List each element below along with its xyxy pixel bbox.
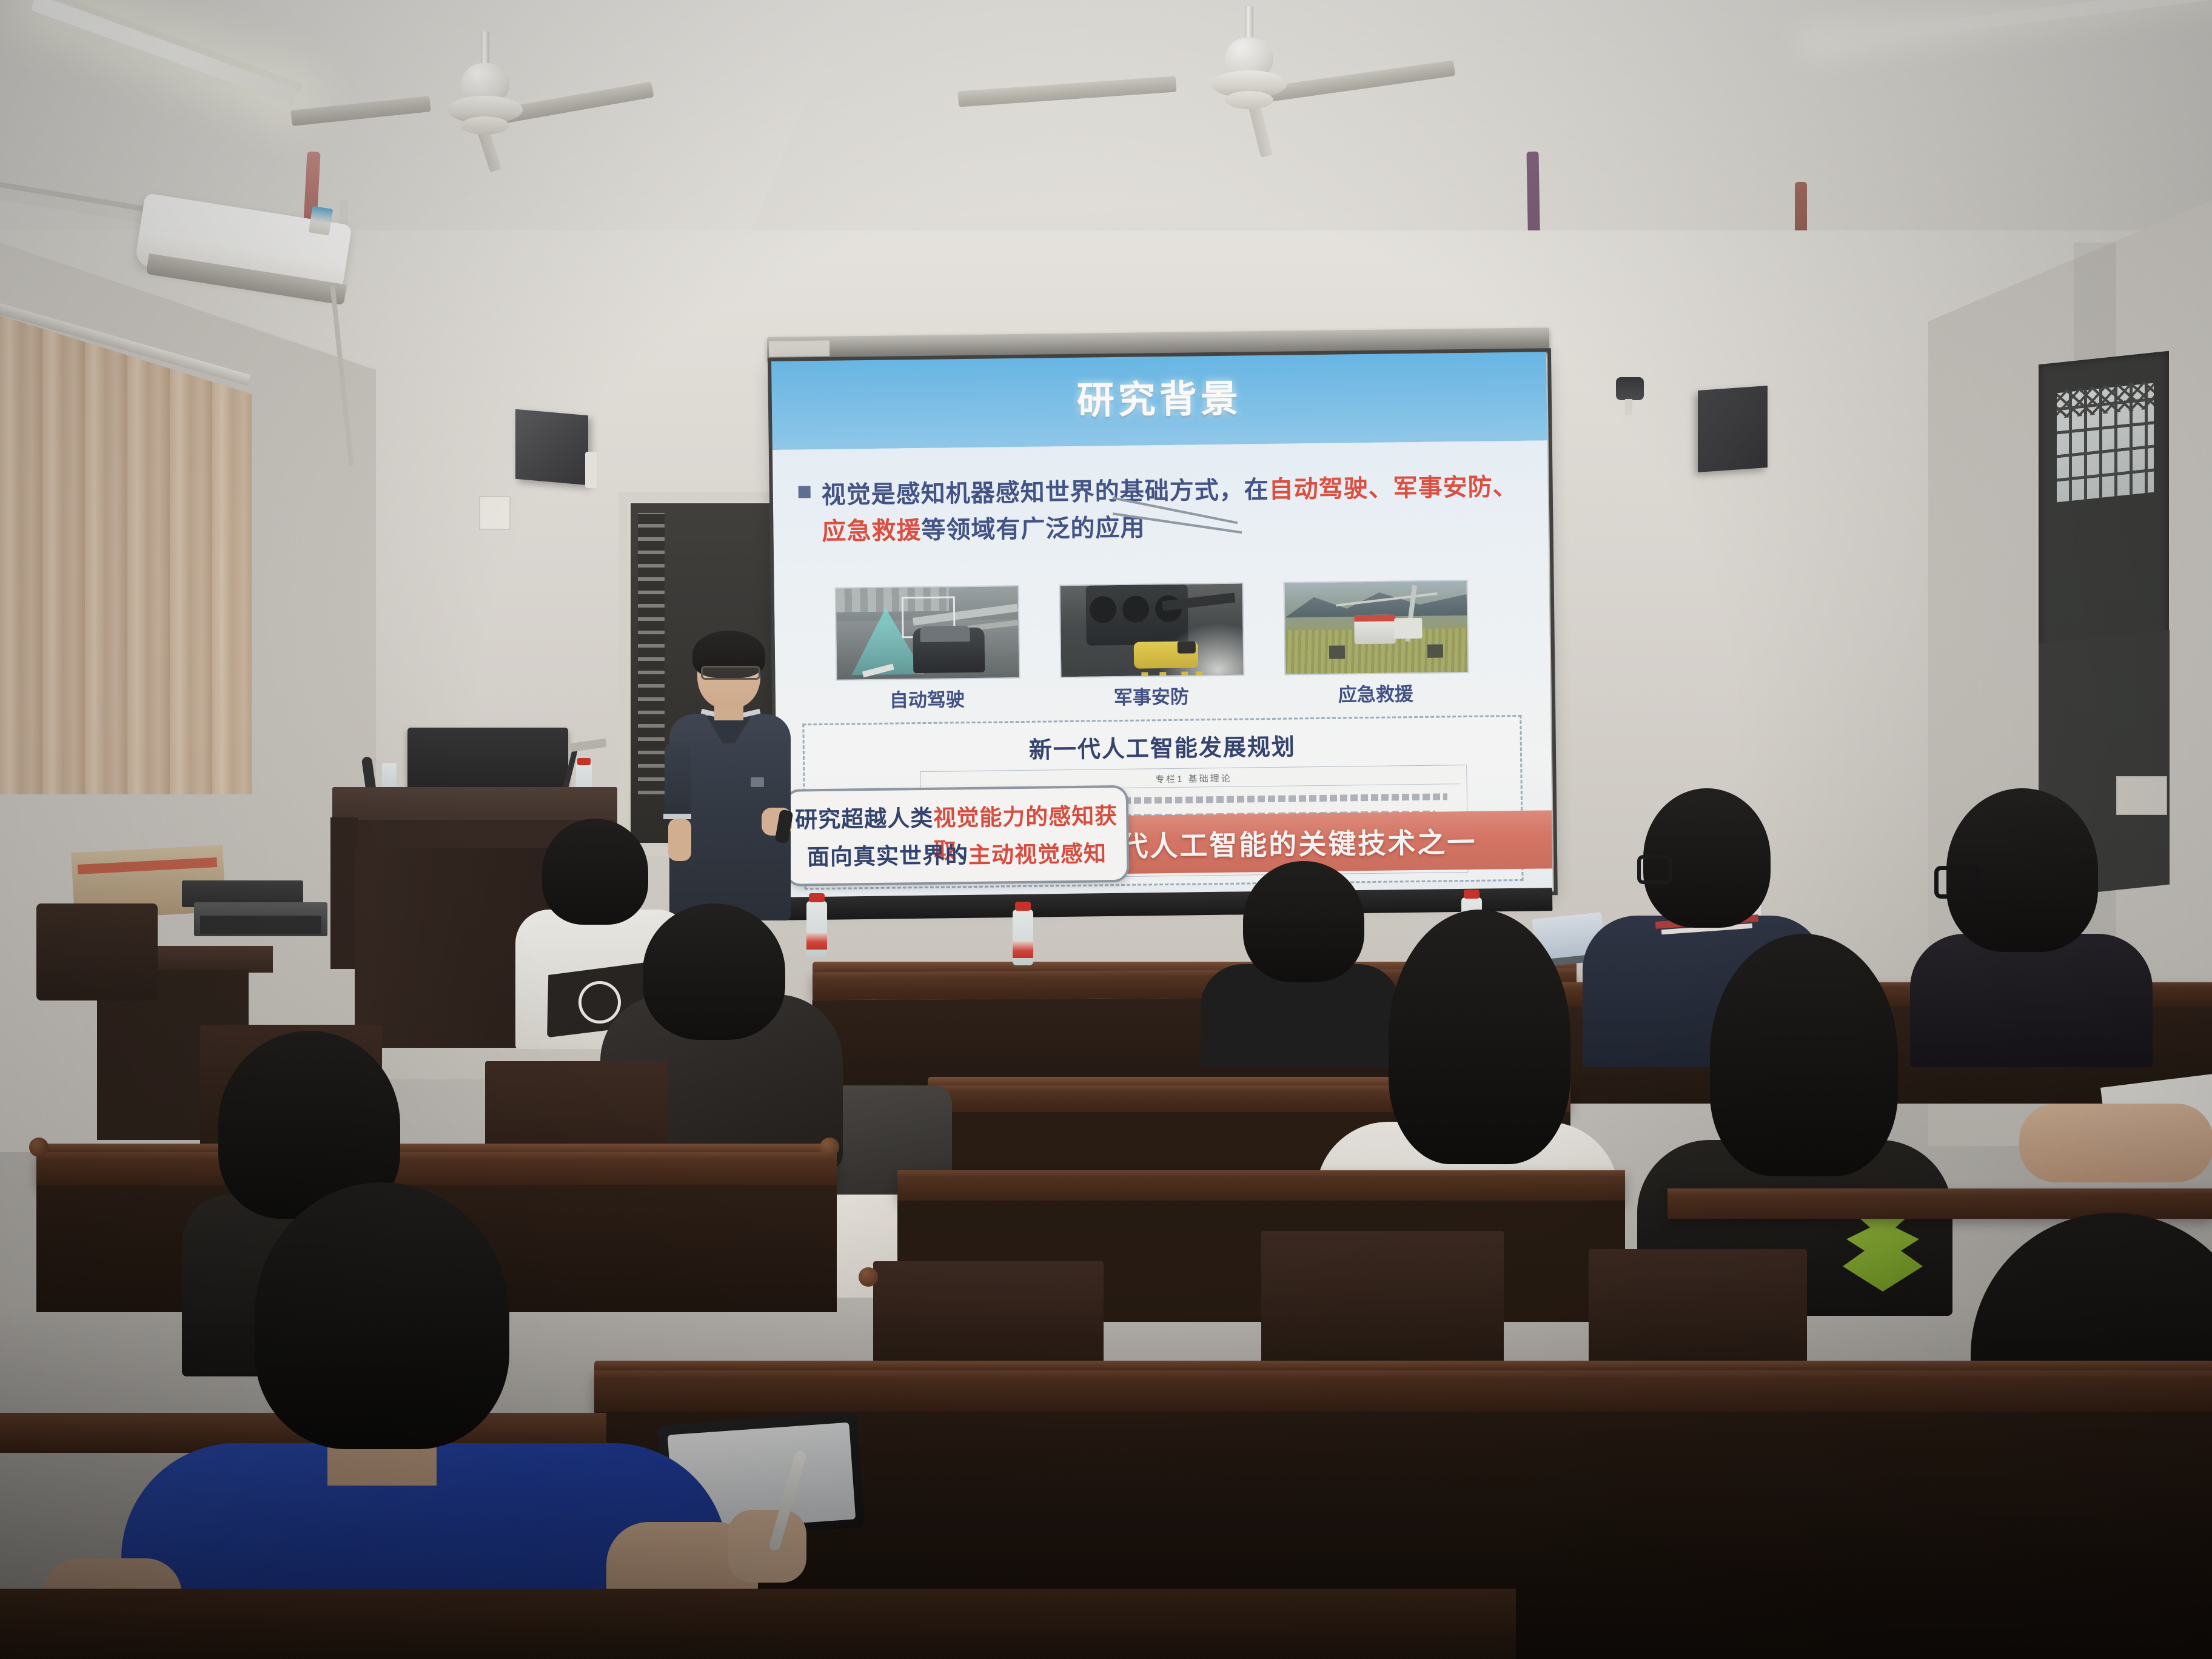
window-curtain [0, 315, 252, 794]
attendee-head [255, 1182, 509, 1449]
speaker-cable-left [585, 452, 597, 488]
bench-knob [859, 1267, 878, 1287]
slide-thumbnail-row: 自动驾驶 军事安防 [835, 580, 1491, 713]
slide-title-band: 研究背景 [771, 350, 1547, 450]
list-item [42, 1182, 758, 1659]
water-bottle [1013, 910, 1033, 965]
projection-screen: 研究背景 视觉是感知机器感知世界的基础方式，在自动驾驶、军事安防、应急救援等领域… [771, 350, 1553, 900]
presenter-glasses-icon [701, 666, 760, 680]
attendee-glasses-icon [1934, 866, 1979, 899]
attendee-head [1389, 910, 1570, 1164]
attendee-hand-right [728, 1510, 806, 1583]
thumbnail-item: 自动驾驶 [835, 585, 1019, 713]
desk-foreground [0, 1589, 1516, 1659]
podium-bottle-cap [577, 758, 591, 765]
thumbnail-item: 军事安防 [1059, 583, 1243, 711]
callout-line2-plain: 面向真实世界的 [807, 843, 968, 870]
desk-row-4 [36, 1152, 837, 1185]
bullet-text-after: 等领域有广泛的应用 [921, 514, 1145, 544]
autonomous-driving-thumb [835, 585, 1021, 681]
door-side-pattern [638, 513, 665, 804]
cctv-camera-icon [1616, 377, 1644, 400]
callout-line1-plain: 研究超越人类 [795, 806, 933, 833]
plan-box-title: 新一代人工智能发展规划 [805, 725, 1521, 767]
lecture-hall-scene: 研究背景 视觉是感知机器感知世界的基础方式，在自动驾驶、军事安防、应急救援等领域… [0, 0, 2212, 1659]
bench-seat [873, 1261, 1104, 1376]
wall-speaker-left-icon [515, 409, 588, 485]
chair-left [36, 903, 158, 1000]
wall-speaker-right-icon [1698, 386, 1768, 472]
callout-bubble: 研究超越人类视觉能力的感知获取、 面向真实世界的主动视觉感知 [784, 785, 1130, 886]
desk-row-front [594, 1370, 2212, 1412]
thumbnail-item: 应急救援 [1284, 580, 1467, 708]
attendee-head [1710, 934, 1898, 1176]
bench-knob [820, 1138, 839, 1157]
ceiling-fan-right [1158, 6, 1340, 146]
desk-row-5 [897, 1170, 1625, 1201]
attendee-glasses-icon [1637, 855, 1672, 884]
presenter-sleeve [665, 742, 691, 820]
attendee-arm [2019, 1104, 2212, 1182]
emergency-rescue-thumb [1284, 580, 1469, 675]
callout-line-2: 面向真实世界的主动视觉感知 [787, 835, 1127, 872]
thumbnail-caption: 军事安防 [1061, 681, 1243, 711]
thumbnail-caption: 应急救援 [1285, 678, 1467, 708]
thumbnail-caption: 自动驾驶 [836, 683, 1019, 713]
presenter-shirt-logo [751, 777, 764, 787]
cctv-camera-mount [1625, 399, 1632, 415]
bench-seat [1261, 1231, 1504, 1376]
slide-title: 研究背景 [771, 364, 1547, 428]
military-security-thumb [1059, 583, 1245, 679]
projector-screen-housing-cap [769, 340, 829, 357]
air-conditioner-badge [309, 206, 333, 236]
wall-plate [479, 496, 511, 530]
av-mixer-face [200, 916, 321, 934]
bullet-text-before: 视觉是感知机器感知世界的基础方式，在 [821, 477, 1269, 509]
callout-line2-highlight: 主动视觉感知 [968, 841, 1107, 868]
attendee-head [643, 903, 785, 1040]
plan-document-header: 专栏1 基础理论 [920, 769, 1466, 788]
slide-body: 视觉是感知机器感知世界的基础方式，在自动驾驶、军事安防、应急救援等领域有广泛的应… [773, 440, 1553, 900]
bench-knob [29, 1138, 49, 1157]
bullet-square-icon [799, 486, 811, 498]
podium-monitor [407, 728, 568, 794]
slide-bullet-row: 视觉是感知机器感知世界的基础方式，在自动驾驶、军事安防、应急救援等领域有广泛的应… [798, 469, 1520, 551]
ceiling-fan-left [400, 32, 570, 159]
